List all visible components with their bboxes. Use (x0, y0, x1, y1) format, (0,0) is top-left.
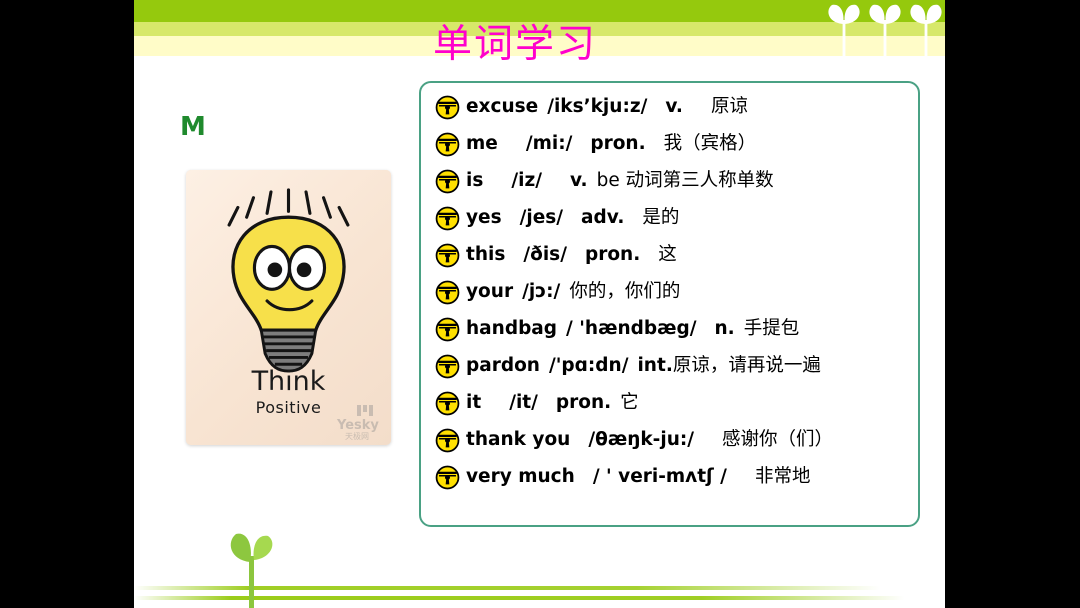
word-phonetic: /it/ (509, 392, 538, 413)
word-term: your (466, 281, 513, 302)
wordlist-item-text: is/iz/v.be 动词第三人称单数 (466, 172, 774, 191)
yesky-watermark: Yesky 天极网 (333, 403, 385, 441)
sprout-icon (824, 4, 864, 56)
sprout-icon (865, 4, 905, 56)
wordlist-item[interactable]: is/iz/v.be 动词第三人称单数 (421, 163, 918, 200)
speaker-bullet-icon (435, 317, 460, 342)
slide-canvas: 单词学习 M (134, 0, 945, 608)
word-phonetic: /iks’kju:z/ (547, 96, 647, 117)
wordlist-item[interactable]: yes/jes/adv.是的 (421, 200, 918, 237)
word-meaning: 它 (620, 392, 639, 413)
sprouts-decoration (824, 0, 945, 56)
green-sprout-mark: M (180, 114, 206, 140)
word-part-of-speech: adv. (581, 207, 624, 228)
word-phonetic: /'pɑ:dn/ (549, 355, 628, 376)
word-meaning: 非常地 (755, 466, 811, 487)
speaker-bullet-icon (435, 95, 460, 120)
word-meaning: 你的，你们的 (569, 281, 680, 302)
wordlist-item-text: your/jɔ:/你的，你们的 (466, 283, 680, 302)
word-term: handbag (466, 318, 557, 339)
word-meaning: be 动词第三人称单数 (597, 170, 774, 191)
lightbulb-illustration (186, 188, 391, 373)
word-part-of-speech: pron. (556, 392, 611, 413)
word-meaning: 原谅，请再说一遍 (673, 355, 821, 376)
word-phonetic: /jes/ (520, 207, 563, 228)
speaker-bullet-icon (435, 465, 460, 490)
speaker-bullet-icon (435, 354, 460, 379)
screen: 单词学习 M (0, 0, 1080, 608)
speaker-bullet-icon (435, 428, 460, 453)
word-part-of-speech: v. (665, 96, 683, 117)
word-part-of-speech: int. (637, 355, 672, 376)
word-part-of-speech: v. (570, 170, 588, 191)
word-term: excuse (466, 96, 538, 117)
word-term: is (466, 170, 483, 191)
sprout-icon (906, 4, 945, 56)
wordlist-item-text: this/ðis/pron.这 (466, 246, 677, 265)
word-meaning: 是的 (642, 207, 679, 228)
svg-text:天极网: 天极网 (345, 431, 369, 441)
word-phonetic: /iz/ (511, 170, 542, 191)
think-positive-image-card: Think Positive Yesky 天极网 (186, 170, 391, 445)
sprout-icon (224, 530, 280, 608)
wordlist-panel: excuse/iks’kju:z/v.原谅me/mi:/pron.我（宾格）is… (419, 81, 920, 527)
wordlist-item[interactable]: this/ðis/pron.这 (421, 237, 918, 274)
word-term: very much (466, 466, 575, 487)
wordlist-item-text: me/mi:/pron.我（宾格） (466, 135, 756, 154)
speaker-bullet-icon (435, 206, 460, 231)
word-term: this (466, 244, 505, 265)
word-part-of-speech: n. (715, 318, 735, 339)
word-phonetic: /θæŋk-ju:/ (588, 429, 694, 450)
word-meaning: 感谢你（们） (722, 429, 833, 450)
wordlist-item-text: very much/ ' veri-mʌtʃ /非常地 (466, 468, 810, 487)
wordlist-item[interactable]: very much/ ' veri-mʌtʃ /非常地 (421, 459, 918, 496)
wordlist-item[interactable]: it/it/pron.它 (421, 385, 918, 422)
word-part-of-speech: pron. (585, 244, 640, 265)
word-term: me (466, 133, 498, 154)
word-term: yes (466, 207, 502, 228)
speaker-bullet-icon (435, 132, 460, 157)
word-meaning: 原谅 (711, 96, 748, 117)
wordlist-item-text: excuse/iks’kju:z/v.原谅 (466, 98, 748, 117)
wordlist-item[interactable]: your/jɔ:/你的，你们的 (421, 274, 918, 311)
wordlist-item-text: pardon/'pɑ:dn/int.原谅，请再说一遍 (466, 357, 821, 376)
wordlist-item[interactable]: pardon/'pɑ:dn/int.原谅，请再说一遍 (421, 348, 918, 385)
word-phonetic: / 'hændbæg/ (566, 318, 696, 339)
wordlist: excuse/iks’kju:z/v.原谅me/mi:/pron.我（宾格）is… (421, 89, 918, 496)
wordlist-item-text: it/it/pron.它 (466, 394, 639, 413)
word-term: pardon (466, 355, 540, 376)
wordlist-item[interactable]: handbag/ 'hændbæg/n.手提包 (421, 311, 918, 348)
word-term: thank you (466, 429, 570, 450)
word-part-of-speech: pron. (590, 133, 645, 154)
word-meaning: 这 (658, 244, 677, 265)
lightbulb-icon (186, 188, 391, 373)
wordlist-item-text: handbag/ 'hændbæg/n.手提包 (466, 320, 799, 339)
word-phonetic: /jɔ:/ (522, 281, 560, 302)
word-meaning: 我（宾格） (664, 133, 757, 154)
word-phonetic: /mi:/ (526, 133, 573, 154)
caption-line-1: Think (186, 368, 391, 396)
wordlist-item[interactable]: excuse/iks’kju:z/v.原谅 (421, 89, 918, 126)
word-meaning: 手提包 (744, 318, 800, 339)
speaker-bullet-icon (435, 169, 460, 194)
speaker-bullet-icon (435, 280, 460, 305)
footer-decoration (134, 518, 945, 608)
word-phonetic: / ' veri-mʌtʃ / (593, 466, 727, 487)
wordlist-item-text: thank you/θæŋk-ju:/感谢你（们） (466, 431, 833, 450)
wordlist-item[interactable]: me/mi:/pron.我（宾格） (421, 126, 918, 163)
speaker-bullet-icon (435, 391, 460, 416)
wordlist-item-text: yes/jes/adv.是的 (466, 209, 679, 228)
word-term: it (466, 392, 481, 413)
svg-text:Yesky: Yesky (336, 418, 379, 433)
word-phonetic: /ðis/ (523, 244, 567, 265)
slide-title: 单词学习 (433, 25, 597, 64)
wordlist-item[interactable]: thank you/θæŋk-ju:/感谢你（们） (421, 422, 918, 459)
speaker-bullet-icon (435, 243, 460, 268)
